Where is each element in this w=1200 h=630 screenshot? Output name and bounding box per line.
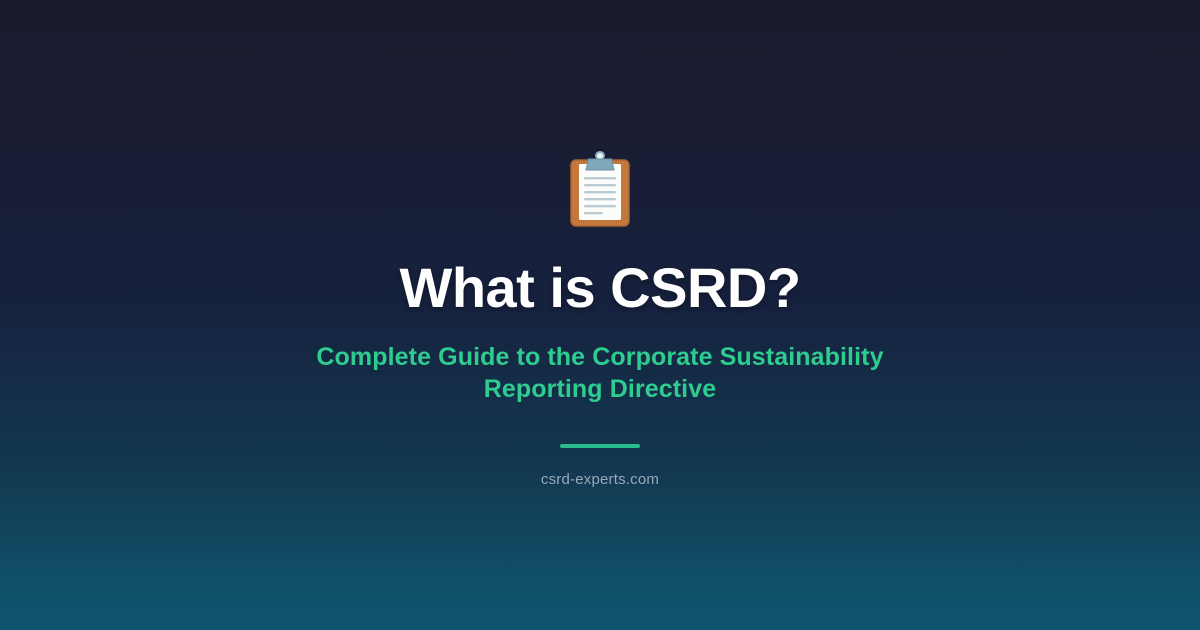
page-subtitle: Complete Guide to the Corporate Sustaina…	[280, 341, 920, 406]
clipboard-icon	[568, 150, 632, 228]
page-title: What is CSRD?	[399, 258, 800, 318]
share-card: What is CSRD? Complete Guide to the Corp…	[0, 0, 1200, 630]
divider	[560, 444, 640, 448]
site-domain: csrd-experts.com	[541, 471, 659, 488]
